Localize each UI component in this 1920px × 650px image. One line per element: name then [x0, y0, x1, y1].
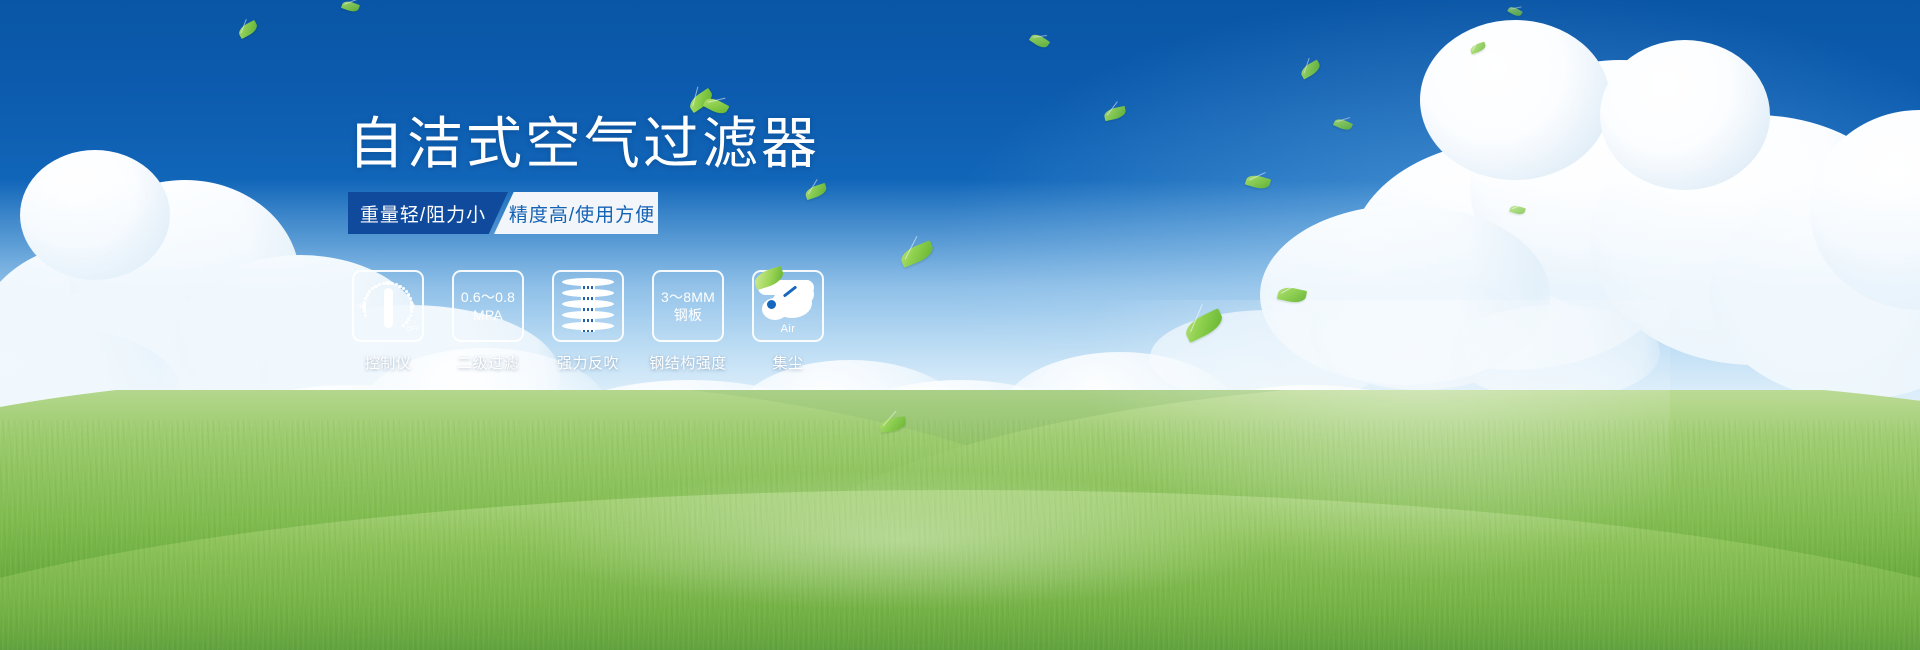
dial-tick — [386, 281, 389, 284]
feature-list: NO OFF 控制仪 0.6～0.8 MPA 二级过滤 — [352, 270, 824, 373]
pressure-range: 0.6～0.8 — [461, 288, 515, 306]
dial-tick — [407, 317, 410, 320]
blowback-disc — [562, 322, 614, 330]
stacked-discs-blowback-icon — [562, 278, 614, 334]
control-dial-icon: NO OFF — [358, 277, 418, 335]
feature-strong-blowback[interactable]: 强力反吹 — [552, 270, 624, 373]
feature-label: 钢结构强度 — [649, 352, 727, 373]
badge-precision-convenience: 精度高/使用方便 — [494, 192, 658, 234]
dial-tick — [378, 283, 381, 286]
badge-bar: 重量轻/阻力小 精度高/使用方便 — [348, 192, 658, 234]
dial-tick — [382, 282, 385, 285]
feature-box: Air — [752, 270, 824, 342]
feature-label: 二级过滤 — [457, 352, 519, 373]
blowback-disc — [562, 289, 614, 297]
feature-label: 集尘 — [772, 352, 803, 373]
dial-tick — [410, 309, 413, 312]
feature-box: 3～8MM 钢板 — [652, 270, 724, 342]
dial-tick — [366, 293, 369, 296]
feature-label: 强力反吹 — [557, 352, 619, 373]
blowback-disc — [562, 311, 614, 319]
dial-tick — [405, 321, 408, 324]
cloud-hole — [767, 300, 776, 309]
steel-material: 钢板 — [661, 306, 715, 324]
feature-box — [552, 270, 624, 342]
dial-tick — [410, 301, 413, 304]
feature-control-instrument[interactable]: NO OFF 控制仪 — [352, 270, 424, 373]
feature-steel-structure-strength[interactable]: 3～8MM 钢板 钢结构强度 — [652, 270, 724, 373]
dial-tick — [363, 309, 366, 312]
dial-tick — [368, 290, 371, 293]
dial-tick — [363, 301, 366, 304]
pressure-text-icon: 0.6～0.8 MPA — [461, 288, 515, 324]
steel-thickness: 3～8MM — [661, 288, 715, 306]
dial-off-label: OFF — [407, 327, 420, 333]
banner-content: 自洁式空气过滤器 重量轻/阻力小 精度高/使用方便 NO OFF 控制仪 — [0, 0, 1920, 650]
dial-tick — [364, 297, 367, 300]
banner-stage: 自洁式空气过滤器 重量轻/阻力小 精度高/使用方便 NO OFF 控制仪 — [0, 0, 1920, 650]
feature-two-stage-filtration[interactable]: 0.6～0.8 MPA 二级过滤 — [452, 270, 524, 373]
dial-tick — [402, 324, 405, 327]
pressure-unit: MPA — [461, 306, 515, 324]
feature-box: 0.6～0.8 MPA — [452, 270, 524, 342]
steel-plate-text-icon: 3～8MM 钢板 — [661, 288, 715, 324]
dial-tick — [410, 305, 413, 308]
blowback-disc — [562, 300, 614, 308]
dial-tick — [364, 314, 367, 317]
feature-box: NO OFF — [352, 270, 424, 342]
dial-tick — [362, 305, 365, 308]
air-cloud-icon: Air — [758, 280, 818, 332]
feature-label: 控制仪 — [365, 352, 412, 373]
air-label: Air — [758, 323, 818, 335]
page-title: 自洁式空气过滤器 — [348, 112, 820, 176]
dial-tick — [409, 297, 412, 300]
blowback-disc — [562, 278, 614, 286]
dial-tick — [390, 282, 393, 285]
badge-weight-resistance: 重量轻/阻力小 — [348, 192, 508, 234]
feature-dust-collection[interactable]: Air 集尘 — [752, 270, 824, 373]
dial-needle — [384, 288, 393, 328]
